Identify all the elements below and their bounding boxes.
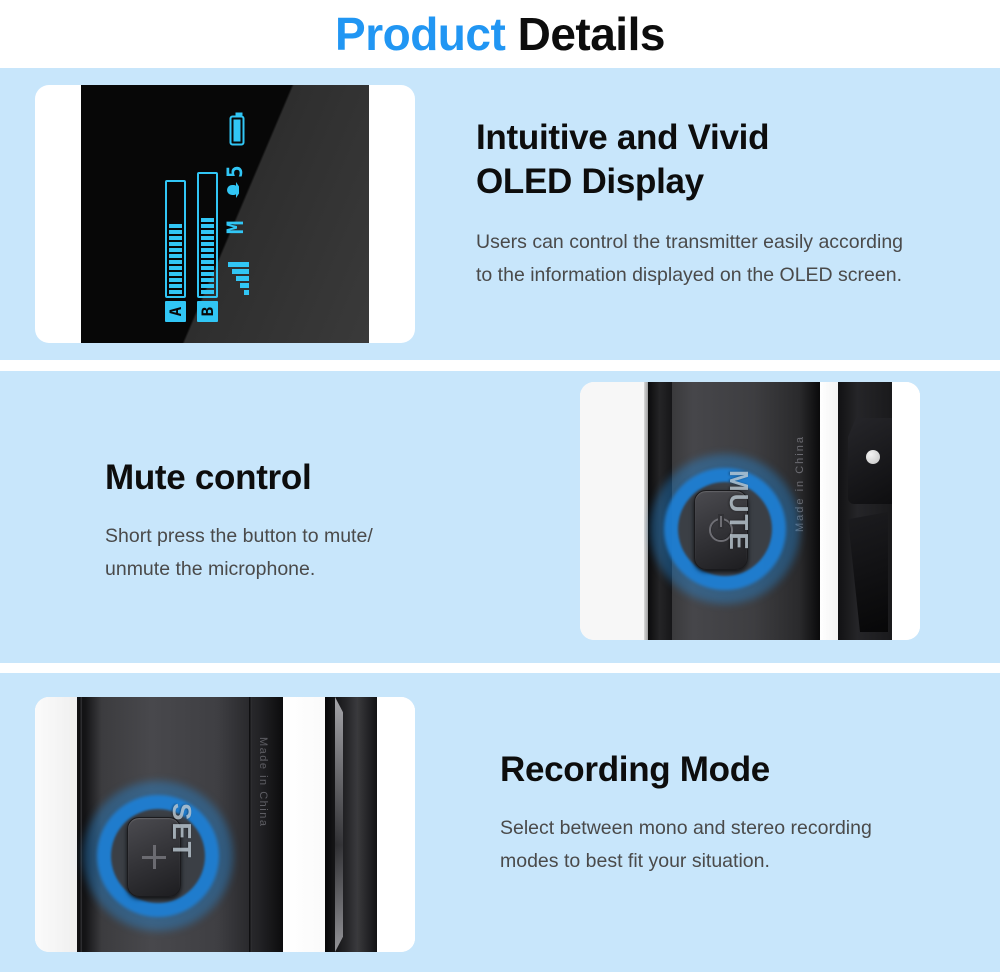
oled-heading-line1: Intuitive and Vivid — [476, 118, 769, 157]
device-seam-right — [249, 697, 252, 952]
card-white-right — [377, 697, 415, 952]
section-recording: Made in China SET Recording Mode Select … — [0, 673, 1000, 972]
oled-heading: Intuitive and Vivid OLED Display — [476, 116, 976, 204]
oled-mic-gain-value: 5 — [225, 165, 246, 178]
battery-icon — [230, 116, 245, 146]
oled-level-meter-a — [165, 180, 186, 298]
plus-icon — [142, 845, 166, 869]
device-gap — [283, 697, 325, 952]
oled-ui-group: A B — [165, 106, 285, 322]
card-white-left — [35, 697, 77, 952]
page-title-bar: Product Details — [0, 0, 1000, 68]
set-button-highlight[interactable]: SET — [83, 781, 233, 931]
set-button-label: SET — [166, 803, 197, 860]
page-title: Product Details — [335, 11, 665, 57]
device-body-right — [325, 697, 377, 952]
mute-image-card: Made in China MUTE — [580, 382, 920, 640]
microphone-icon — [227, 182, 244, 198]
oled-screen-photo: A B — [81, 85, 369, 343]
card-white-right — [892, 382, 920, 640]
oled-channel-a-label: A — [165, 301, 186, 322]
device-seam-left — [79, 697, 82, 952]
page-title-accent: Product — [335, 8, 505, 60]
oled-mode-label: M — [226, 221, 248, 234]
oled-level-meter-b — [197, 172, 218, 298]
recording-heading: Recording Mode — [500, 748, 970, 792]
page-title-rest: Details — [518, 8, 665, 60]
oled-channel-b-row: B — [197, 172, 218, 322]
mute-body-line2: unmute the microphone. — [105, 558, 315, 580]
oled-channel-a-row: A — [165, 180, 186, 322]
oled-body-line1: Users can control the transmitter easily… — [476, 231, 903, 253]
oled-channel-b-label: B — [197, 301, 218, 322]
device-gap — [820, 382, 840, 640]
mute-text-block: Mute control Short press the button to m… — [105, 456, 535, 586]
mute-button-photo: Made in China MUTE — [580, 382, 920, 640]
recording-body-line1: Select between mono and stereo recording — [500, 817, 872, 839]
mute-button-highlight[interactable]: MUTE — [650, 454, 800, 604]
set-button-photo: Made in China SET — [35, 697, 415, 952]
recording-text-block: Recording Mode Select between mono and s… — [500, 748, 970, 878]
mute-button-label: MUTE — [723, 470, 754, 552]
oled-text-block: Intuitive and Vivid OLED Display Users c… — [476, 116, 976, 292]
clip-pivot-dot-icon — [866, 450, 880, 464]
oled-heading-line2: OLED Display — [476, 162, 704, 201]
signal-strength-icon — [227, 262, 249, 295]
recording-body-line2: modes to best fit your situation. — [500, 850, 770, 872]
mute-body-line1: Short press the button to mute/ — [105, 525, 373, 547]
device-imprint-text: Made in China — [257, 737, 269, 827]
product-details-page: Product Details A B — [0, 0, 1000, 972]
mute-heading: Mute control — [105, 456, 535, 500]
section-mute: Mute control Short press the button to m… — [0, 371, 1000, 663]
oled-body-line2: to the information displayed on the OLED… — [476, 264, 902, 286]
oled-mic-gain-group: 5 — [225, 165, 246, 198]
section-oled: A B — [0, 68, 1000, 360]
recording-body: Select between mono and stereo recording… — [500, 812, 970, 878]
recording-image-card: Made in China SET — [35, 697, 415, 952]
oled-body: Users can control the transmitter easily… — [476, 226, 976, 292]
mute-body: Short press the button to mute/ unmute t… — [105, 520, 535, 586]
oled-image-card: A B — [35, 85, 415, 343]
device-right-highlight — [335, 697, 343, 952]
